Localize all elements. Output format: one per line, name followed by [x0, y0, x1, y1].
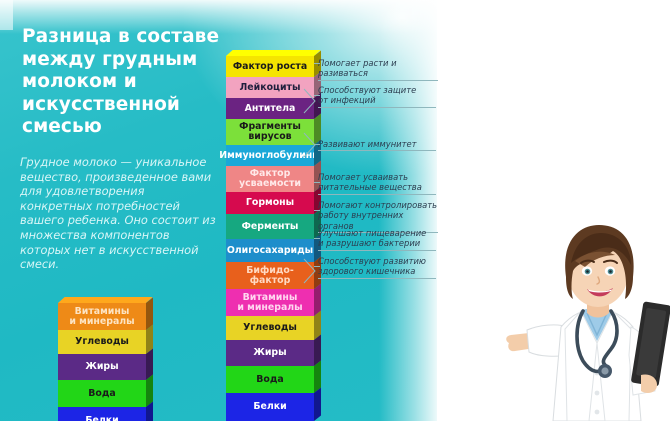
breast-milk-bar-label: Белки [253, 402, 286, 412]
breast-milk-bar: Витамины и минералы [226, 289, 314, 316]
formula-bar: Углеводы [58, 330, 146, 354]
breast-milk-bar-label: Антитела [245, 104, 296, 114]
breast-milk-bar: Фрагменты вирусов [226, 119, 314, 145]
female-doctor-illustration [505, 215, 670, 421]
formula-bar-label: Жиры [85, 362, 118, 372]
annotation-note: Улучшают пищеварение и разрушают бактери… [318, 228, 436, 251]
breast-milk-bar: Антитела [226, 98, 314, 119]
formula-bar-label: Белки [85, 416, 118, 421]
annotation-note: Помогает усваивать питательные вещества [318, 172, 436, 195]
intro-paragraph: Грудное молоко — уникальное вещество, пр… [20, 155, 220, 272]
breast-milk-bar-label: Олигосахариды [227, 246, 313, 256]
breast-milk-column: Фактор ростаЛейкоцитыАнтителаФрагменты в… [226, 56, 314, 421]
annotation-bracket-icon [303, 88, 317, 114]
panel-corner-notch [0, 0, 13, 30]
breast-milk-bar-label: Ферменты [242, 222, 299, 232]
formula-bar: Белки [58, 407, 146, 421]
formula-bar-label: Вода [88, 389, 115, 399]
breast-milk-bar-label: Бифидо- фактор [246, 266, 294, 285]
breast-milk-bar: Иммуноглобулины [226, 145, 314, 166]
breast-milk-bar: Ферменты [226, 214, 314, 239]
formula-bar-label: Углеводы [75, 337, 129, 347]
breast-milk-bar-label: Вода [256, 375, 283, 385]
breast-milk-bar-label: Жиры [253, 348, 286, 358]
annotation-leader-line [314, 182, 320, 183]
annotation-note: Развивают иммунитет [318, 139, 436, 151]
formula-bar-label: Витамины и минералы [69, 307, 134, 326]
breast-milk-bar-label: Лейкоциты [240, 83, 301, 93]
infographic-canvas: Разница в составе между грудным молоком … [0, 0, 670, 421]
formula-bar: Жиры [58, 354, 146, 380]
breast-milk-bar-label: Фрагменты вирусов [239, 122, 301, 141]
breast-milk-bar: Углеводы [226, 316, 314, 340]
breast-milk-bar-label: Углеводы [243, 323, 297, 333]
breast-milk-bar-label: Гормоны [246, 198, 294, 208]
annotation-leader-line [314, 238, 320, 239]
breast-milk-bar: Фактор усваемости [226, 166, 314, 192]
formula-bar: Витамины и минералы [58, 303, 146, 330]
breast-milk-bar: Лейкоциты [226, 77, 314, 98]
annotation-bracket-icon [303, 258, 317, 284]
breast-milk-bar-label: Фактор роста [233, 62, 307, 72]
breast-milk-bar: Белки [226, 393, 314, 421]
breast-milk-bar: Гормоны [226, 192, 314, 214]
breast-milk-bar-label: Фактор усваемости [239, 169, 301, 188]
annotation-bracket-icon [303, 132, 317, 158]
breast-milk-bar: Жиры [226, 340, 314, 366]
breast-milk-bar: Фактор роста [226, 56, 314, 77]
breast-milk-bar-label: Витамины и минералы [237, 293, 302, 312]
annotation-note: Способствуют развитию здорового кишечник… [318, 256, 436, 279]
annotation-leader-line [314, 63, 320, 64]
breast-milk-bar: Олигосахариды [226, 239, 314, 262]
breast-milk-bar: Вода [226, 366, 314, 393]
formula-column: Витамины и минералыУглеводыЖирыВодаБелки [58, 303, 146, 421]
annotation-note: Помогает расти и разиваться [318, 58, 438, 81]
annotation-leader-line [314, 210, 320, 211]
formula-bar: Вода [58, 380, 146, 407]
breast-milk-bar: Бифидо- фактор [226, 262, 314, 289]
page-title: Разница в составе между грудным молоком … [22, 26, 222, 139]
annotation-note: Способствуют защите от инфекций [318, 85, 436, 108]
